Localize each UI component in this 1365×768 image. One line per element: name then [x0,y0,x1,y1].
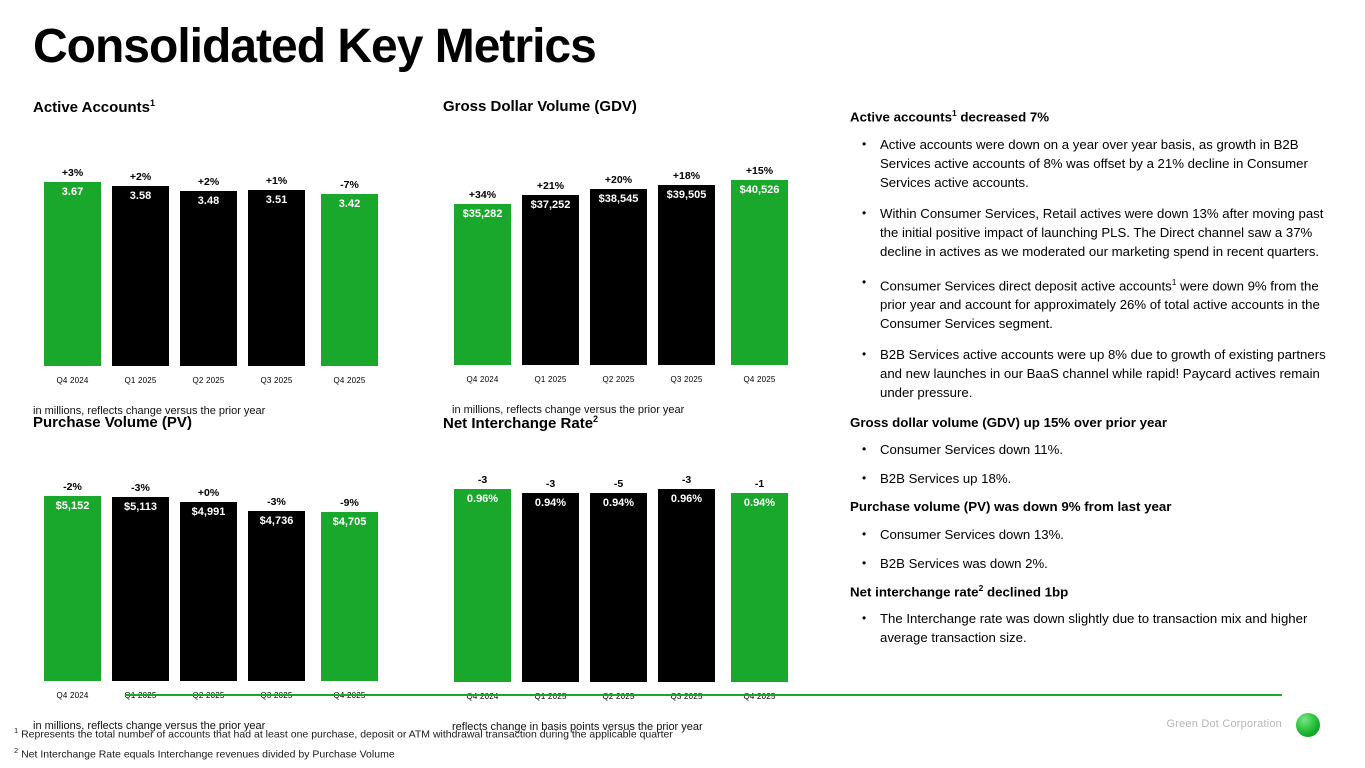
commentary-bullet: •Consumer Services direct deposit active… [850,273,1340,333]
footnote-text: Net Interchange Rate equals Interchange … [18,748,395,760]
bullet-dot-icon: • [850,525,880,544]
commentary-bullet-text: Active accounts were down on a year over… [880,135,1340,192]
bar-column: $37,252+21%Q1 2025 [522,130,579,392]
bar-column: $5,152-2%Q4 2024 [44,446,101,708]
bar-column: $4,705-9%Q4 2025 [321,446,378,708]
bar-change-label: -3 [522,478,579,490]
bar: 3.51 [248,190,305,366]
commentary-bullet: •Consumer Services down 13%. [850,525,1340,544]
bar-column: $5,113-3%Q1 2025 [112,446,169,708]
bullet-footnote-marker: 1 [1172,277,1177,287]
chart-block-gross-dollar-volume: Gross Dollar Volume (GDV)$35,282+34%Q4 2… [443,98,833,416]
bar-column: 3.67+3%Q4 2024 [44,131,101,393]
bar-value-label: 0.96% [454,493,511,505]
bar-category-label: Q2 2025 [172,376,245,385]
commentary-bullet: •The Interchange rate was down slightly … [850,609,1340,647]
bar: 0.94% [731,493,788,682]
commentary-heading-rest: decreased 7% [957,109,1049,124]
bar-category-label: Q3 2025 [240,376,313,385]
bar-value-label: 0.96% [658,493,715,505]
bar-change-label: +20% [590,174,647,186]
bar: $35,282 [454,204,511,365]
commentary-heading-rest: declined 1bp [983,584,1068,599]
bar-value-label: 3.51 [248,194,305,206]
bar-category-label: Q4 2024 [36,691,109,700]
bar: 0.94% [590,493,647,682]
bar: $5,152 [44,496,101,681]
bar-column: $4,991+0%Q2 2025 [180,446,237,708]
commentary-heading: Purchase volume (PV) was down 9% from la… [850,498,1340,515]
bar-category-label: Q4 2025 [313,376,386,385]
bar-column: 3.42-7%Q4 2025 [321,131,378,393]
bar: 0.96% [454,489,511,682]
bar-value-label: $38,545 [590,193,647,205]
chart-plot-purchase-volume: $5,152-2%Q4 2024$5,113-3%Q1 2025$4,991+0… [33,446,423,708]
bar-column: 0.94%-5Q2 2025 [590,447,647,709]
slide-root: Consolidated Key Metrics Active Accounts… [0,0,1365,768]
bar-value-label: 3.67 [44,186,101,198]
bar: 0.96% [658,489,715,682]
bar-change-label: +1% [248,175,305,187]
chart-title-text: Active Accounts [33,99,150,116]
bar-value-label: $4,705 [321,516,378,528]
commentary-bullet: •Within Consumer Services, Retail active… [850,204,1340,261]
bar-change-label: -9% [321,497,378,509]
chart-block-net-interchange-rate: Net Interchange Rate20.96%-3Q4 20240.94%… [443,414,833,733]
page-title: Consolidated Key Metrics [33,22,596,72]
commentary-bullet: •B2B Services active accounts were up 8%… [850,345,1340,402]
bar-value-label: $35,282 [454,208,511,220]
bullet-dot-icon: • [850,440,880,459]
chart-plot-active-accounts: 3.67+3%Q4 20243.58+2%Q1 20253.48+2%Q2 20… [33,131,423,393]
bar-value-label: 3.42 [321,198,378,210]
bar-column: $40,526+15%Q4 2025 [731,130,788,392]
bar-column: 0.94%-1Q4 2025 [731,447,788,709]
bar: 3.48 [180,191,237,366]
bullet-dot-icon: • [850,554,880,573]
chart-title-footnote-marker: 1 [150,98,155,108]
chart-title-net-interchange-rate: Net Interchange Rate2 [443,414,833,433]
bar-change-label: +21% [522,180,579,192]
brand-name: Green Dot Corporation [1167,718,1282,730]
bar-change-label: -3 [658,474,715,486]
bar-category-label: Q2 2025 [582,375,655,384]
footnotes: 1 Represents the total number of account… [14,723,673,762]
bar-value-label: 3.58 [112,190,169,202]
bar-column: 3.58+2%Q1 2025 [112,131,169,393]
bar-change-label: -1 [731,478,788,490]
chart-block-purchase-volume: Purchase Volume (PV)$5,152-2%Q4 2024$5,1… [33,414,423,732]
bar: $4,991 [180,502,237,681]
footnote-line: 2 Net Interchange Rate equals Interchang… [14,743,673,763]
commentary-heading: Net interchange rate2 declined 1bp [850,583,1340,601]
commentary-bullet-text: Consumer Services direct deposit active … [880,273,1340,333]
chart-plot-net-interchange-rate: 0.96%-3Q4 20240.94%-3Q1 20250.94%-5Q2 20… [443,447,833,709]
bar-column: 0.96%-3Q3 2025 [658,447,715,709]
commentary-heading-text: Purchase volume (PV) was down 9% from la… [850,499,1171,514]
bar-value-label: $5,113 [112,501,169,513]
chart-title-text: Gross Dollar Volume (GDV) [443,98,637,115]
bar-change-label: -3% [248,496,305,508]
bar-change-label: -7% [321,179,378,191]
bar-column: $35,282+34%Q4 2024 [454,130,511,392]
chart-title-active-accounts: Active Accounts1 [33,98,423,117]
bar-category-label: Q4 2024 [446,375,519,384]
bar-change-label: -3% [112,482,169,494]
bar-value-label: 0.94% [522,497,579,509]
commentary-heading-text: Active accounts [850,109,952,124]
commentary-bullet-text: Consumer Services down 13%. [880,525,1340,544]
footnote-line: 1 Represents the total number of account… [14,723,673,743]
bullet-dot-icon: • [850,135,880,192]
bar-change-label: +2% [112,171,169,183]
commentary-bullet: •B2B Services up 18%. [850,469,1340,488]
bar-change-label: +2% [180,176,237,188]
commentary-bullet-text: Consumer Services down 11%. [880,440,1340,459]
bar-column: $4,736-3%Q3 2025 [248,446,305,708]
bar: 3.58 [112,186,169,366]
chart-block-active-accounts: Active Accounts13.67+3%Q4 20243.58+2%Q1 … [33,98,423,417]
commentary-bullet: •B2B Services was down 2%. [850,554,1340,573]
bar-category-label: Q4 2024 [36,376,109,385]
bar-category-label: Q1 2025 [514,375,587,384]
bar-value-label: $40,526 [731,184,788,196]
bar: $39,505 [658,185,715,365]
commentary-bullet: •Consumer Services down 11%. [850,440,1340,459]
footer-divider-rule [125,694,1282,696]
bar-column: 3.48+2%Q2 2025 [180,131,237,393]
commentary-bullet-text: B2B Services up 18%. [880,469,1340,488]
bar-value-label: $4,736 [248,515,305,527]
chart-plot-gross-dollar-volume: $35,282+34%Q4 2024$37,252+21%Q1 2025$38,… [443,130,833,392]
bar-column: 3.51+1%Q3 2025 [248,131,305,393]
bar-change-label: +0% [180,487,237,499]
bar-value-label: 3.48 [180,195,237,207]
bullet-dot-icon: • [850,609,880,647]
commentary-heading: Gross dollar volume (GDV) up 15% over pr… [850,414,1340,431]
bar-change-label: -2% [44,481,101,493]
bar-change-label: +34% [454,189,511,201]
bar: $5,113 [112,497,169,681]
bar-value-label: $5,152 [44,500,101,512]
bar-column: $39,505+18%Q3 2025 [658,130,715,392]
bullet-dot-icon: • [850,273,880,333]
bar-change-label: -5 [590,478,647,490]
bar: $40,526 [731,180,788,365]
chart-title-purchase-volume: Purchase Volume (PV) [33,414,423,432]
bar-category-label: Q1 2025 [104,376,177,385]
bar-value-label: $37,252 [522,199,579,211]
bar-change-label: -3 [454,474,511,486]
bar: 3.67 [44,182,101,366]
commentary-heading-text: Net interchange rate [850,584,979,599]
commentary-heading-text: Gross dollar volume (GDV) up 15% over pr… [850,415,1167,430]
bar-value-label: 0.94% [731,497,788,509]
bar-change-label: +18% [658,170,715,182]
bar-value-label: $39,505 [658,189,715,201]
commentary-bullet-text: B2B Services active accounts were up 8% … [880,345,1340,402]
commentary-heading: Active accounts1 decreased 7% [850,108,1340,126]
commentary-bullet: •Active accounts were down on a year ove… [850,135,1340,192]
bar-column: $38,545+20%Q2 2025 [590,130,647,392]
commentary-bullet-text: B2B Services was down 2%. [880,554,1340,573]
commentary-bullet-text: The Interchange rate was down slightly d… [880,609,1340,647]
bullet-dot-icon: • [850,204,880,261]
commentary-bullet-text: Within Consumer Services, Retail actives… [880,204,1340,261]
bullet-dot-icon: • [850,345,880,402]
bar-column: 0.96%-3Q4 2024 [454,447,511,709]
bar: $4,736 [248,511,305,681]
chart-title-gross-dollar-volume: Gross Dollar Volume (GDV) [443,98,833,116]
bullet-dot-icon: • [850,469,880,488]
chart-title-text: Purchase Volume (PV) [33,414,192,431]
bar: $4,705 [321,512,378,681]
bar: $38,545 [590,189,647,365]
footnote-text: Represents the total number of accounts … [18,729,673,741]
commentary-panel: Active accounts1 decreased 7%•Active acc… [850,108,1340,657]
chart-title-footnote-marker: 2 [593,414,598,424]
bar: $37,252 [522,195,579,365]
chart-title-text: Net Interchange Rate [443,415,593,432]
bar-value-label: 0.94% [590,497,647,509]
bar: 0.94% [522,493,579,682]
bar-category-label: Q4 2025 [723,375,796,384]
bar-column: 0.94%-3Q1 2025 [522,447,579,709]
bar-category-label: Q3 2025 [650,375,723,384]
bar-change-label: +15% [731,165,788,177]
bar-value-label: $4,991 [180,506,237,518]
bar-change-label: +3% [44,167,101,179]
green-dot-logo-icon [1296,713,1320,737]
bar: 3.42 [321,194,378,366]
